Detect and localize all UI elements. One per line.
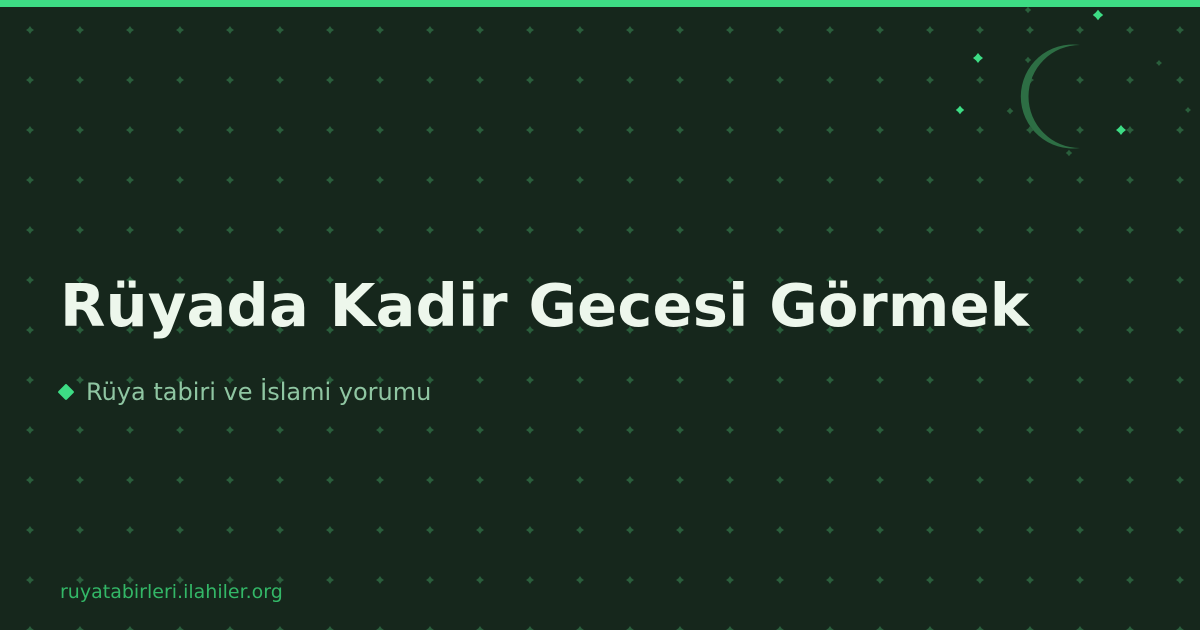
social-share-card: Rüyada Kadir Gecesi Görmek Rüya tabiri v… — [0, 0, 1200, 630]
star-icon — [1185, 107, 1191, 113]
text-content: Rüyada Kadir Gecesi Görmek Rüya tabiri v… — [60, 0, 1140, 630]
diamond-bullet-icon — [58, 384, 75, 401]
star-icon — [1156, 60, 1162, 66]
subtitle-text: Rüya tabiri ve İslami yorumu — [86, 377, 431, 407]
site-url: ruyatabirleri.ilahiler.org — [60, 580, 283, 604]
page-title: Rüyada Kadir Gecesi Görmek — [60, 272, 1029, 340]
subtitle-row: Rüya tabiri ve İslami yorumu — [60, 377, 431, 407]
top-accent-bar — [0, 0, 1200, 7]
